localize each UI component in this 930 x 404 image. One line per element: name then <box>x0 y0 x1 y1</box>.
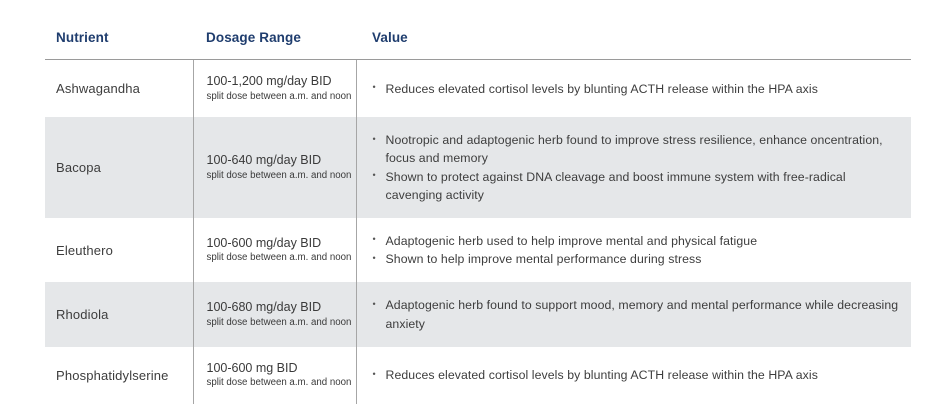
cell-value-list: Adaptogenic herb used to help improve me… <box>356 218 911 282</box>
dosage-amount: 100-1,200 mg/day BID <box>207 74 348 90</box>
dosage-instruction: split dose between a.m. and noon <box>207 252 348 265</box>
dosage-instruction: split dose between a.m. and noon <box>207 317 348 330</box>
dosage-instruction: split dose between a.m. and noon <box>207 377 348 390</box>
cell-dosage-range: 100-600 mg BIDsplit dose between a.m. an… <box>193 347 356 404</box>
cell-dosage-range: 100-1,200 mg/day BIDsplit dose between a… <box>193 60 356 118</box>
value-bullet-item: Nootropic and adaptogenic herb found to … <box>373 131 906 167</box>
cell-nutrient-name: Eleuthero <box>45 218 193 282</box>
cell-nutrient-name: Ashwagandha <box>45 60 193 118</box>
column-header-value: Value <box>356 30 911 60</box>
dosage-amount: 100-600 mg/day BID <box>207 236 348 252</box>
table-row: Ashwagandha100-1,200 mg/day BIDsplit dos… <box>45 60 911 118</box>
value-bullet-list: Adaptogenic herb found to support mood, … <box>357 296 906 332</box>
cell-dosage-range: 100-640 mg/day BIDsplit dose between a.m… <box>193 117 356 218</box>
table-row: Eleuthero100-600 mg/day BIDsplit dose be… <box>45 218 911 282</box>
column-header-nutrient: Nutrient <box>45 30 193 60</box>
dosage-amount: 100-680 mg/day BID <box>207 300 348 316</box>
value-bullet-item: Shown to help improve mental performance… <box>373 250 906 268</box>
cell-nutrient-name: Rhodiola <box>45 282 193 346</box>
cell-nutrient-name: Phosphatidylserine <box>45 347 193 404</box>
value-bullet-item: Adaptogenic herb used to help improve me… <box>373 232 906 250</box>
dosage-amount: 100-640 mg/day BID <box>207 153 348 169</box>
table-row: Phosphatidylserine100-600 mg BIDsplit do… <box>45 347 911 404</box>
cell-value-list: Adaptogenic herb found to support mood, … <box>356 282 911 346</box>
table-body: Ashwagandha100-1,200 mg/day BIDsplit dos… <box>45 60 911 404</box>
dosage-amount: 100-600 mg BID <box>207 361 348 377</box>
cell-value-list: Nootropic and adaptogenic herb found to … <box>356 117 911 218</box>
table-row: Rhodiola100-680 mg/day BIDsplit dose bet… <box>45 282 911 346</box>
dosage-instruction: split dose between a.m. and noon <box>207 91 348 104</box>
value-bullet-item: Reduces elevated cortisol levels by blun… <box>373 366 906 384</box>
nutrient-dosage-table: Nutrient Dosage Range Value Ashwagandha1… <box>45 30 911 404</box>
value-bullet-item: Shown to protect against DNA cleavage an… <box>373 168 906 204</box>
value-bullet-list: Reduces elevated cortisol levels by blun… <box>357 80 906 98</box>
table-header: Nutrient Dosage Range Value <box>45 30 911 60</box>
dosage-instruction: split dose between a.m. and noon <box>207 170 348 183</box>
table-row: Bacopa100-640 mg/day BIDsplit dose betwe… <box>45 117 911 218</box>
value-bullet-list: Adaptogenic herb used to help improve me… <box>357 232 906 268</box>
cell-nutrient-name: Bacopa <box>45 117 193 218</box>
cell-dosage-range: 100-680 mg/day BIDsplit dose between a.m… <box>193 282 356 346</box>
cell-value-list: Reduces elevated cortisol levels by blun… <box>356 60 911 118</box>
value-bullet-item: Adaptogenic herb found to support mood, … <box>373 296 906 332</box>
value-bullet-list: Nootropic and adaptogenic herb found to … <box>357 131 906 204</box>
column-header-dosage-range: Dosage Range <box>193 30 356 60</box>
value-bullet-item: Reduces elevated cortisol levels by blun… <box>373 80 906 98</box>
value-bullet-list: Reduces elevated cortisol levels by blun… <box>357 366 906 384</box>
cell-dosage-range: 100-600 mg/day BIDsplit dose between a.m… <box>193 218 356 282</box>
nutrient-table-container: Nutrient Dosage Range Value Ashwagandha1… <box>45 30 911 404</box>
cell-value-list: Reduces elevated cortisol levels by blun… <box>356 347 911 404</box>
